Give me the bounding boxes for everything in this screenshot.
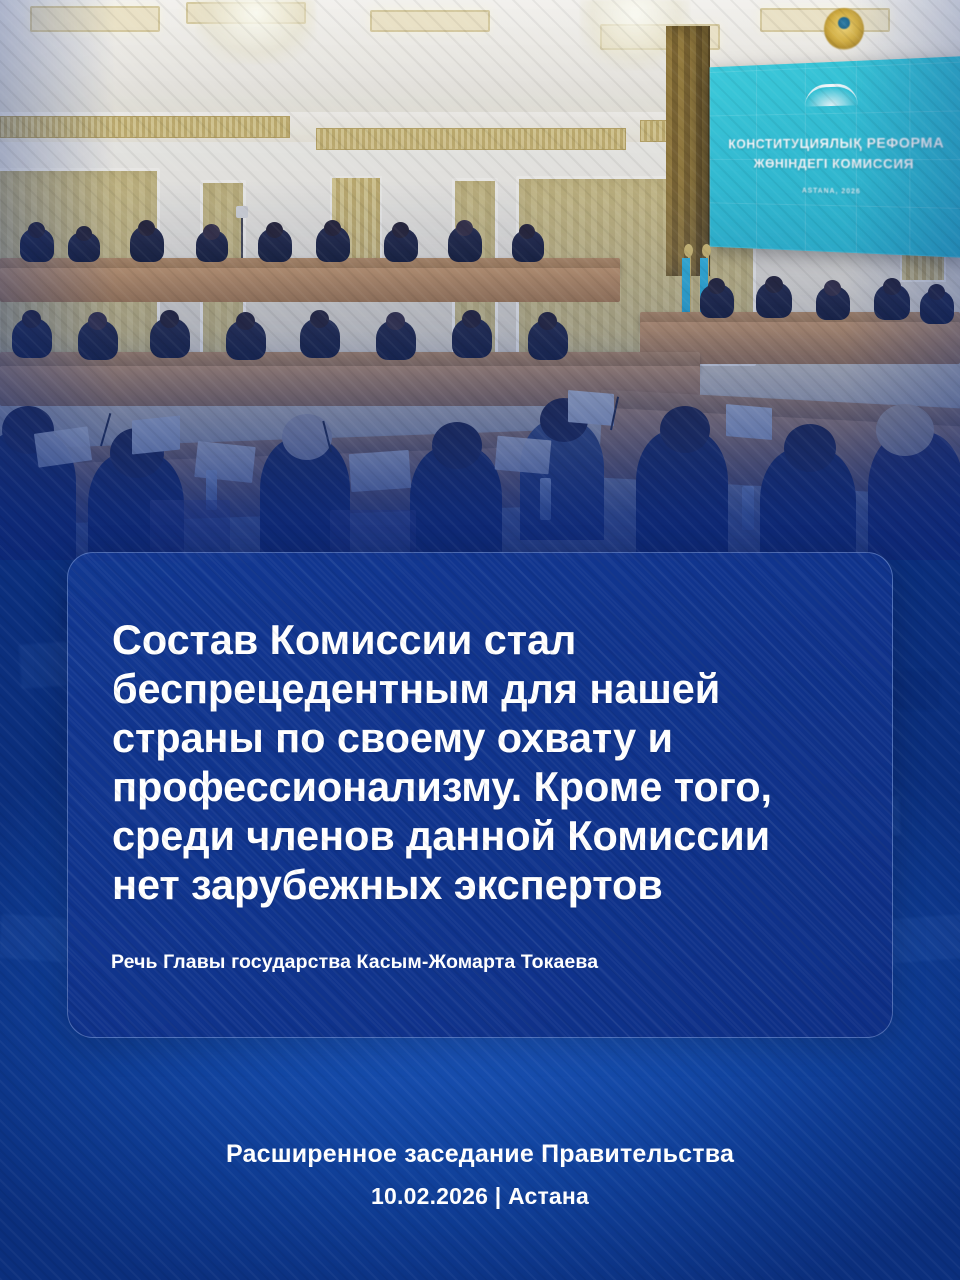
footer-date-location: 10.02.2026 | Астана (0, 1183, 960, 1210)
quote-text: Состав Комиссии стал беспрецедентным для… (112, 615, 812, 909)
footer: Расширенное заседание Правительства 10.0… (0, 1140, 960, 1210)
photo-blue-tint (0, 0, 960, 600)
conference-hall-photo: КОНСТИТУЦИЯЛЫҚ РЕФОРМА ЖӨНІНДЕГІ КОМИССИ… (0, 0, 960, 600)
footer-event-title: Расширенное заседание Правительства (0, 1140, 960, 1169)
quote-attribution: Речь Главы государства Касым-Жомарта Ток… (111, 951, 598, 974)
slide-canvas: КОНСТИТУЦИЯЛЫҚ РЕФОРМА ЖӨНІНДЕГІ КОМИССИ… (0, 0, 960, 1280)
